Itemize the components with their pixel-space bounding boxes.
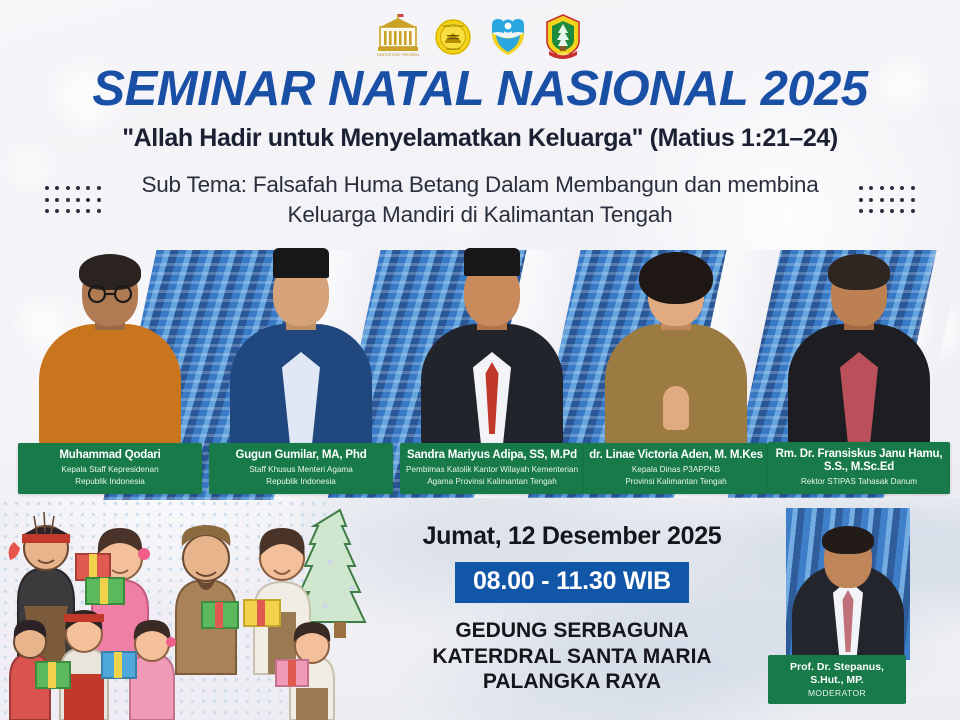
speaker-photo [601,252,751,448]
poster-subtheme: Sub Tema: Falsafah Huma Betang Dalam Mem… [130,170,830,229]
speaker-name: Gugun Gumilar, MA, Phd [213,449,389,463]
event-venue: GEDUNG SERBAGUNA KATERDRAL SANTA MARIA P… [396,618,748,695]
svg-text:KALTENG: KALTENG [557,52,569,56]
speaker-nameplate: Gugun Gumilar, MA, Phd Staff Khusus Ment… [209,443,393,494]
speaker-nameplate: dr. Linae Victoria Aden, M. M.Kes Kepala… [584,443,768,494]
venue-line-3: PALANGKA RAYA [396,669,748,695]
speaker-photo [226,252,376,448]
event-date: Jumat, 12 Desember 2025 [396,522,748,551]
speaker-role-line1: Rektor STIPAS Tahasak Danum [772,477,946,487]
speaker-nameplate: Rm. Dr. Fransiskus Janu Hamu, S.S., M.Sc… [768,442,950,494]
logo-row: KANTOR STAF PRESIDEN KEMENTERIAN AGAMA R… [0,13,960,59]
moderator-role: MODERATOR [772,688,902,698]
speaker-card[interactable]: Gugun Gumilar, MA, Phd Staff Khusus Ment… [205,250,397,500]
venue-line-2: KATERDRAL SANTA MARIA [396,644,748,670]
speaker-photo [784,252,934,448]
eyeglasses-icon [79,284,141,304]
praying-hands-icon [663,386,689,430]
bottom-section: Jumat, 12 Desember 2025 08.00 - 11.30 WI… [0,498,960,720]
speakers-section: Muhammad Qodari Kepala Staff Kepresidena… [0,250,960,500]
speaker-role-line1: Staff Khusus Menteri Agama [213,465,389,475]
moderator-card[interactable]: Prof. Dr. Stepanus, S.Hut., MP. MODERATO… [786,508,910,704]
peci-cap-icon [464,248,520,276]
speaker-nameplate: Sandra Mariyus Adipa, SS, M.Pd Pembimas … [400,443,584,494]
poster-title: SEMINAR NATAL NASIONAL 2025 [0,64,960,115]
event-time-badge: 08.00 - 11.30 WIB [455,562,689,603]
kantor-staf-presiden-caption: KANTOR STAF PRESIDEN [377,53,419,57]
indonesian-families-christmas-illustration [0,502,400,720]
svg-text:AGAMA RI: AGAMA RI [445,47,460,51]
kantor-staf-presiden-logo: KANTOR STAF PRESIDEN [376,13,420,59]
speaker-card[interactable]: dr. Linae Victoria Aden, M. M.Kes Kepala… [580,250,772,500]
dot-grid-right-decoration [856,183,918,217]
event-details: Jumat, 12 Desember 2025 08.00 - 11.30 WI… [396,522,748,695]
speaker-card[interactable]: Muhammad Qodari Kepala Staff Kepresidena… [14,250,206,500]
kementerian-agama-logo: KEMENTERIAN AGAMA RI [431,13,475,59]
p3appkb-logo [486,13,530,59]
moderator-name-line1: Prof. Dr. Stepanus, [772,661,902,674]
speaker-role-line1: Kepala Dinas P3APPKB [588,465,764,475]
speaker-role-line1: Kepala Staff Kepresidenan [22,465,198,475]
moderator-photo [786,508,910,660]
speaker-name: Rm. Dr. Fransiskus Janu Hamu, S.S., M.Sc… [772,448,946,475]
speaker-role-line2: Republik Indonesia [22,477,198,487]
speaker-photo [35,252,185,448]
speaker-card[interactable]: Rm. Dr. Fransiskus Janu Hamu, S.S., M.Sc… [764,250,954,500]
svg-text:KEMENTERIAN: KEMENTERIAN [442,24,464,28]
subtheme-row: Sub Tema: Falsafah Huma Betang Dalam Mem… [0,170,960,229]
figure-javanese-man [176,525,236,674]
headline-block: SEMINAR NATAL NASIONAL 2025 "Allah Hadir… [0,64,960,153]
speaker-photo [417,252,567,448]
speaker-card[interactable]: Sandra Mariyus Adipa, SS, M.Pd Pembimas … [396,250,588,500]
speaker-role-line2: Provinsi Kalimantan Tengah [588,477,764,487]
speaker-role-line2: Agama Provinsi Kalimantan Tengah [404,477,580,487]
speaker-role-line1: Pembimas Katolik Kantor Wilayah Kementer… [404,465,580,475]
seminar-poster: KANTOR STAF PRESIDEN KEMENTERIAN AGAMA R… [0,0,960,720]
dot-grid-left-decoration [42,183,104,217]
moderator-name-line2: S.Hut., MP. [772,674,902,687]
speaker-name: Sandra Mariyus Adipa, SS, M.Pd [404,449,580,463]
speaker-nameplate: Muhammad Qodari Kepala Staff Kepresidena… [18,443,202,494]
speaker-role-line2: Republik Indonesia [213,477,389,487]
poster-subtitle: "Allah Hadir untuk Menyelamatkan Keluarg… [0,124,960,153]
moderator-nameplate: Prof. Dr. Stepanus, S.Hut., MP. MODERATO… [768,655,906,704]
speaker-name: dr. Linae Victoria Aden, M. M.Kes [588,449,764,463]
speaker-name: Muhammad Qodari [22,449,198,463]
venue-line-1: GEDUNG SERBAGUNA [396,618,748,644]
peci-cap-icon [273,248,329,278]
kalimantan-tengah-logo: KALTENG [541,13,585,59]
